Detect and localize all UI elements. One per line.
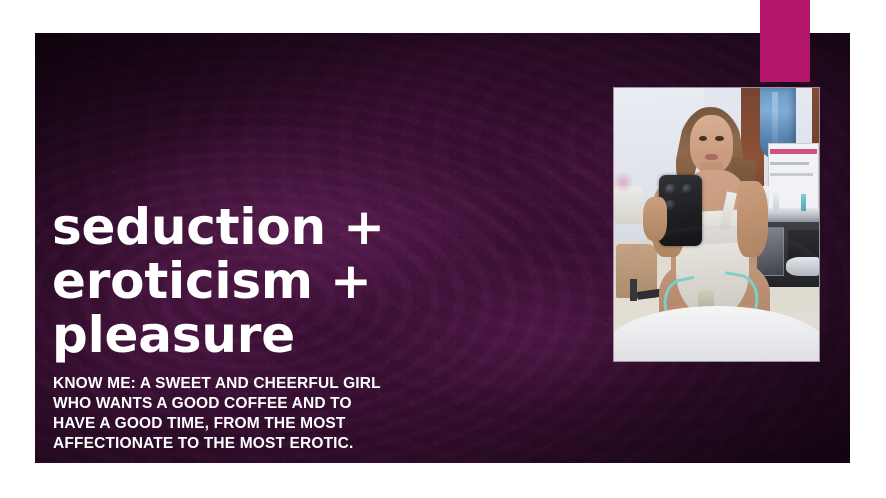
photo-whiteboard-stripe-3: [770, 173, 813, 176]
photo-canvas: [614, 88, 819, 361]
photo-smartphone-lens-2: [682, 184, 693, 195]
accent-bar-pink: [760, 0, 810, 82]
slide-stage: seduction + eroticism + pleasure KNOW ME…: [0, 0, 886, 498]
profile-photo: [614, 88, 819, 361]
photo-whiteboard-stripe: [770, 149, 817, 153]
photo-faucet: [786, 257, 819, 276]
text-block: seduction + eroticism + pleasure KNOW ME…: [52, 200, 572, 454]
slide-title: seduction + eroticism + pleasure: [52, 200, 572, 362]
slide-body-text: KNOW ME: A SWEET AND CHEERFUL GIRL WHO W…: [53, 374, 572, 454]
photo-whiteboard-stripe-2: [770, 162, 809, 165]
photo-bottle-3: [801, 194, 806, 210]
photo-person-eye-right: [715, 136, 723, 141]
photo-smartphone-lens: [665, 184, 676, 195]
photo-pink-object: [614, 170, 632, 195]
photo-bottle-2: [773, 193, 779, 211]
photo-person-mouth: [705, 154, 717, 161]
